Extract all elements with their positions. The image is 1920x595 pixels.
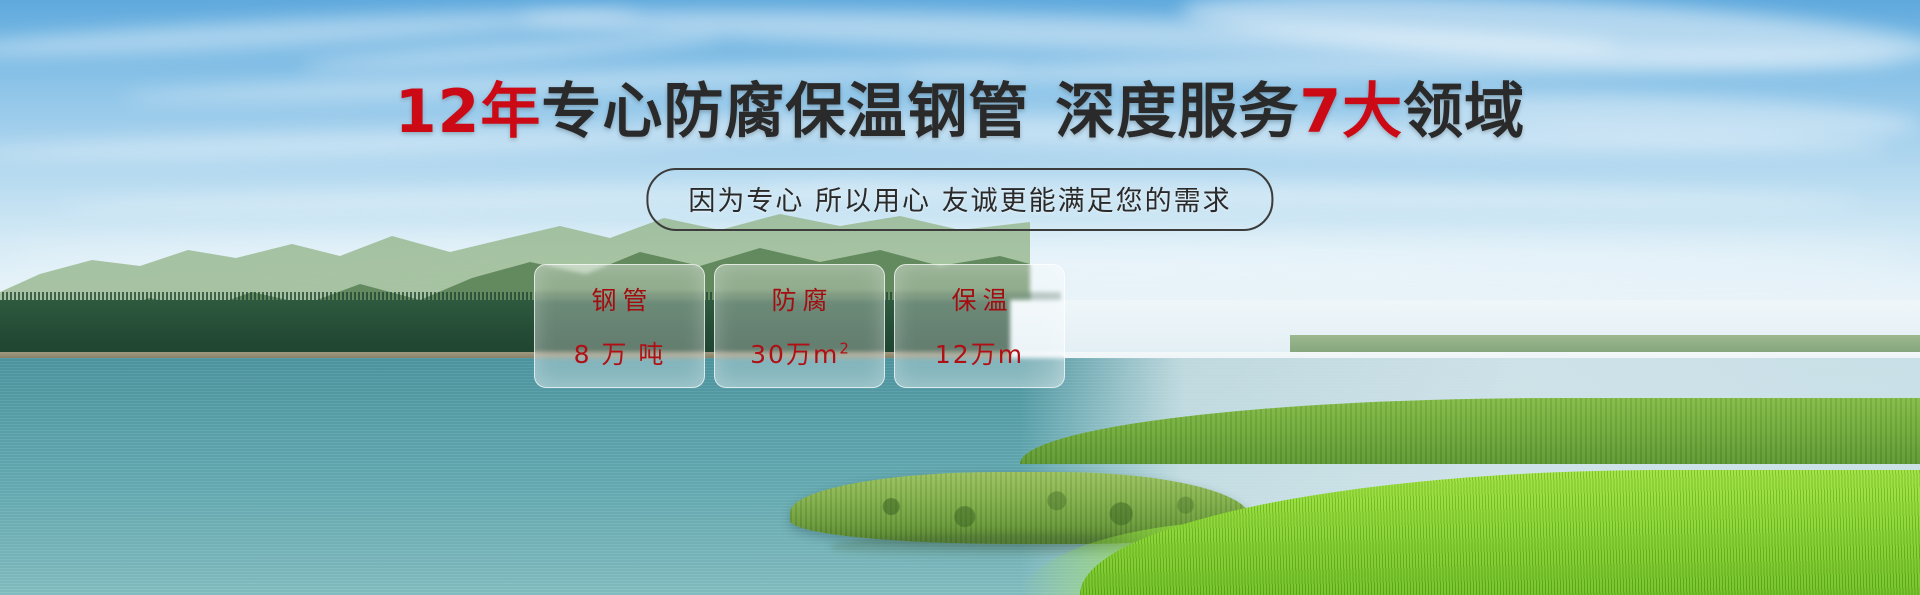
headline-fields-number: 7	[1299, 77, 1342, 147]
stat-value-text: 8 万 吨	[574, 340, 666, 369]
headline-fields-da: 大	[1342, 77, 1403, 147]
hero-banner: 12年专心防腐保温钢管深度服务7大领域 因为专心 所以用心 友诚更能满足您的需求…	[0, 0, 1920, 595]
stat-label: 钢管	[585, 281, 653, 317]
stat-card-steel-pipe[interactable]: 钢管 8 万 吨	[534, 264, 705, 388]
banner-headline: 12年专心防腐保温钢管深度服务7大领域	[0, 82, 1920, 142]
headline-years-number: 12	[395, 77, 481, 147]
stat-value: 12万m	[935, 335, 1024, 371]
headline-fields-text: 领域	[1403, 77, 1525, 147]
headline-years-unit: 年	[480, 77, 541, 147]
stat-card-group: 钢管 8 万 吨 防腐 30万m2 保温 12万m	[534, 264, 1065, 388]
stat-label: 保温	[945, 281, 1013, 317]
stat-value-text: 30万m	[750, 340, 839, 369]
stat-value: 8 万 吨	[574, 335, 666, 371]
stat-value: 30万m2	[750, 335, 849, 371]
stat-card-anticorrosion[interactable]: 防腐 30万m2	[714, 264, 885, 388]
stat-card-insulation[interactable]: 保温 12万m	[894, 264, 1065, 388]
stat-value-superscript: 2	[839, 340, 849, 358]
stat-value-text: 12万m	[935, 340, 1024, 369]
headline-service-text: 深度服务	[1055, 77, 1299, 147]
headline-main-text: 专心防腐保温钢管	[541, 77, 1029, 147]
subtitle-pill: 因为专心 所以用心 友诚更能满足您的需求	[646, 168, 1273, 231]
stat-label: 防腐	[765, 281, 833, 317]
